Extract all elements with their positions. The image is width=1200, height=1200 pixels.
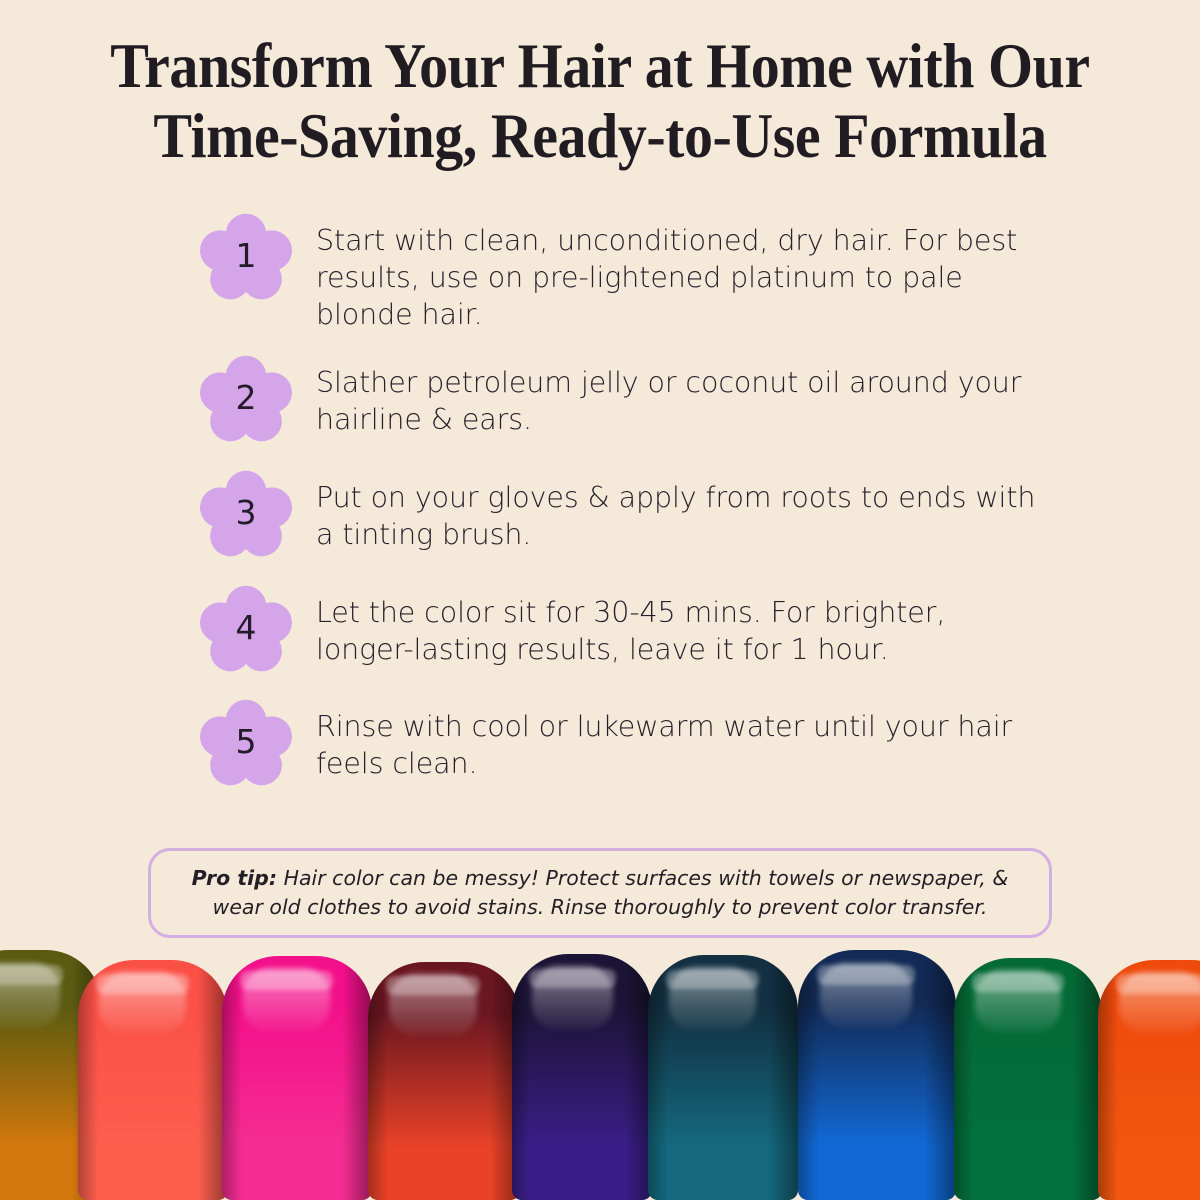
deep-purple-bottle <box>512 954 652 1200</box>
instruction-steps-list: 1 Start with clean, unconditioned, dry h… <box>0 217 1200 789</box>
step-number: 1 <box>200 211 292 303</box>
list-item: 3 Put on your gloves & apply from roots … <box>200 474 1140 560</box>
bottle-left-edge <box>1098 960 1118 1200</box>
royal-blue-bottle <box>798 950 956 1200</box>
step-number: 5 <box>200 697 292 789</box>
bottle-left-edge <box>798 950 819 1200</box>
page-title-line-2: Time-Saving, Ready-to-Use Formula <box>103 104 1097 170</box>
flower-badge-icon: 4 <box>200 583 292 675</box>
bottle-sheen <box>975 970 1061 1033</box>
bottle-sheen <box>532 966 613 1030</box>
flower-badge-icon: 5 <box>200 697 292 789</box>
list-item: 5 Rinse with cool or lukewarm water unti… <box>200 703 1140 789</box>
pro-tip-callout: Pro tip: Hair color can be messy! Protec… <box>148 848 1052 938</box>
bottle-left-edge <box>648 955 668 1200</box>
crimson-wine-bottle <box>368 962 520 1200</box>
bottle-sheen <box>669 967 756 1031</box>
step-number: 4 <box>200 583 292 675</box>
flower-badge-icon: 1 <box>200 211 292 303</box>
list-item: 1 Start with clean, unconditioned, dry h… <box>200 217 1140 333</box>
bottle-left-edge <box>78 960 98 1200</box>
orange-bottle <box>1098 960 1200 1200</box>
step-text: Let the color sit for 30-45 mins. For br… <box>316 589 1036 669</box>
list-item: 2 Slather petroleum jelly or coconut oil… <box>200 359 1140 445</box>
flower-badge-icon: 2 <box>200 353 292 445</box>
bottle-left-edge <box>512 954 530 1200</box>
product-bottles-image <box>0 947 1200 1200</box>
page-title-line-1: Transform Your Hair at Home with Our <box>103 34 1097 100</box>
step-text: Rinse with cool or lukewarm water until … <box>316 703 1036 783</box>
flower-badge-icon: 3 <box>200 468 292 560</box>
page-title: Transform Your Hair at Home with Our Tim… <box>0 0 1200 169</box>
bottle-right-edge <box>768 955 798 1200</box>
list-item: 4 Let the color sit for 30-45 mins. For … <box>200 589 1140 675</box>
bottle-right-edge <box>924 950 956 1200</box>
step-text: Start with clean, unconditioned, dry hai… <box>316 217 1036 333</box>
bottle-sheen <box>99 972 186 1034</box>
pro-tip-label: Pro tip: <box>192 866 277 890</box>
step-text: Slather petroleum jelly or coconut oil a… <box>316 359 1036 439</box>
bottle-sheen <box>389 974 477 1036</box>
bottle-sheen <box>0 963 60 1028</box>
pro-tip-body: Hair color can be messy! Protect surface… <box>213 866 1009 919</box>
bottle-sheen <box>1119 972 1200 1034</box>
step-number: 2 <box>200 353 292 445</box>
magenta-pink-bottle <box>222 956 372 1200</box>
bottle-left-edge <box>368 962 388 1200</box>
step-text: Put on your gloves & apply from roots to… <box>316 474 1036 554</box>
step-number: 3 <box>200 468 292 560</box>
bottle-left-edge <box>222 956 242 1200</box>
bottle-sheen <box>820 963 912 1028</box>
emerald-green-bottle <box>954 958 1102 1200</box>
bottle-left-edge <box>954 958 973 1200</box>
bottle-sheen <box>243 968 330 1031</box>
pro-tip-text: Pro tip: Hair color can be messy! Protec… <box>177 864 1023 922</box>
teal-blue-bottle <box>648 955 798 1200</box>
coral-red-bottle <box>78 960 228 1200</box>
